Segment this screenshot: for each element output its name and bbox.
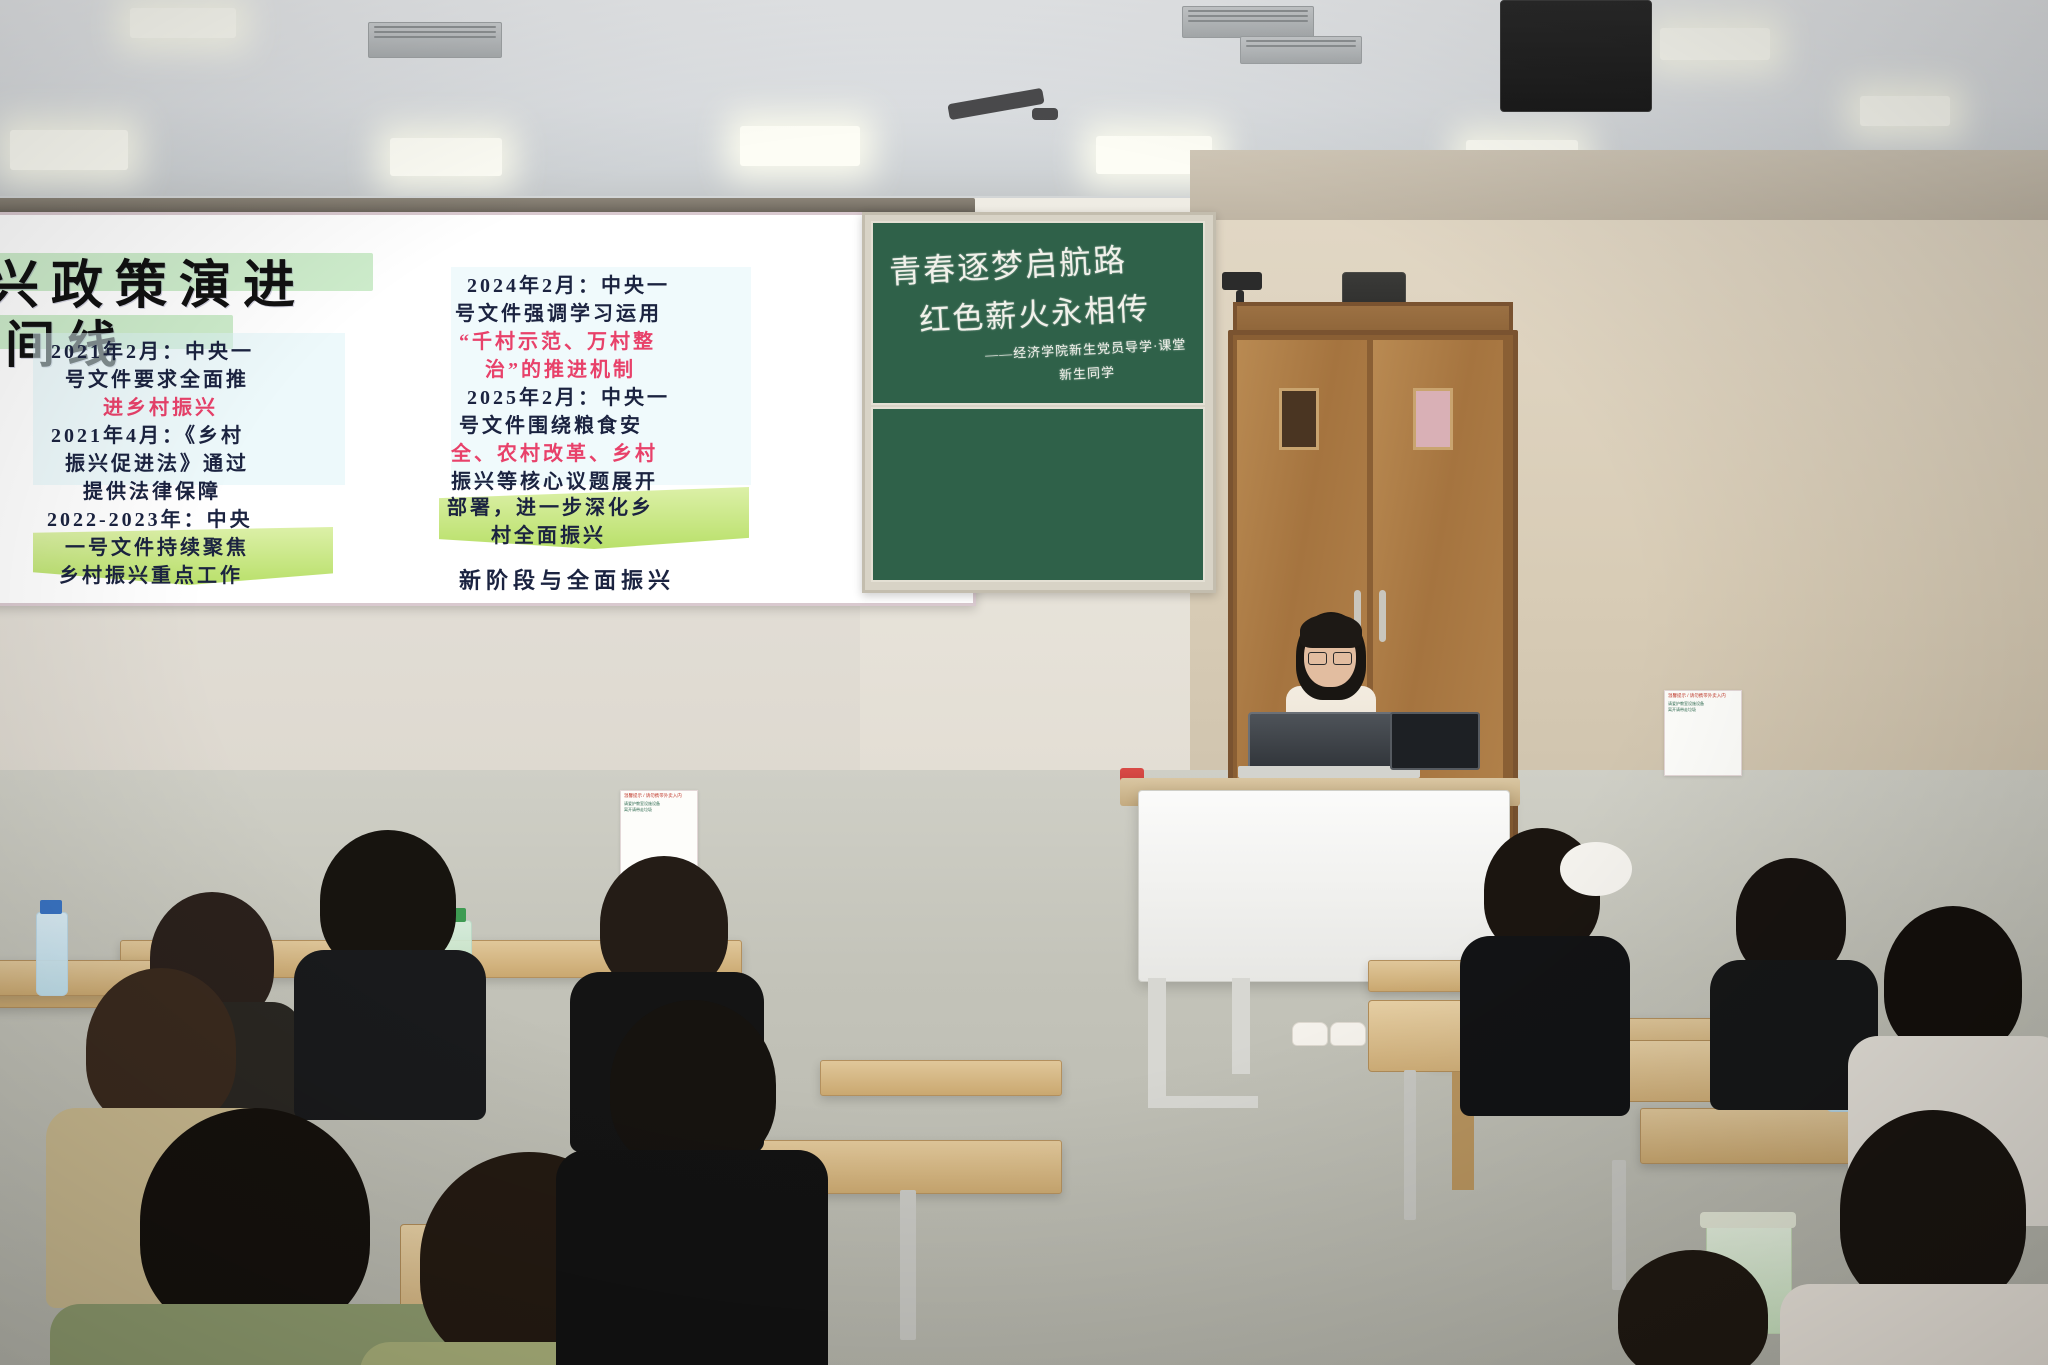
blackboard-upper-panel: 青春逐梦启航路 红色薪火永相传 ——经济学院新生党员导学·课堂 新生同学	[871, 221, 1205, 405]
right-line-3: “千村示范、万村整	[459, 325, 656, 354]
student-torso	[1780, 1284, 2048, 1365]
student-torso	[556, 1150, 828, 1365]
ceiling-vent	[1182, 6, 1314, 38]
left-line-5: 振兴促进法》通过	[65, 447, 249, 476]
blackboard-line-4: 新生同学	[1059, 362, 1116, 384]
presenter-hair-front	[1300, 614, 1362, 648]
student-hair	[1840, 1110, 2026, 1310]
ceiling-light	[1660, 28, 1770, 60]
door-window-left	[1279, 388, 1319, 450]
projection-screen: 兴政策演进 时间线 2021年2月：中央一 号文件要求全面推 进乡村振兴 202…	[0, 212, 976, 606]
left-line-6: 提供法律保障	[83, 475, 221, 504]
ceiling-vent	[368, 22, 502, 58]
right-line-4: 治”的推进机制	[485, 353, 636, 382]
right-line-7: 全、农村改革、乡村	[451, 437, 658, 466]
right-caption: 新阶段与全面振兴	[459, 563, 675, 595]
notice-poster-door: 温馨提示 / 请勿携带外卖入内 请爱护教室设施设备 离开请带走垃圾	[1664, 690, 1742, 776]
poster-title: 温馨提示 / 请勿携带外卖入内	[621, 791, 697, 801]
ceiling-light	[10, 130, 128, 170]
bubble-tea-lid	[1700, 1212, 1796, 1228]
podium-crossbar	[1148, 1096, 1258, 1108]
presenter-glasses-icon	[1308, 652, 1352, 663]
ceiling-light	[740, 126, 860, 166]
ceiling-light	[390, 138, 502, 176]
ceiling-vent	[1240, 36, 1362, 64]
ceiling-light	[130, 8, 236, 38]
left-line-1: 2021年2月：中央一	[51, 335, 254, 364]
right-line-1: 2024年2月：中央一	[467, 269, 670, 298]
blackboard-line-2: 红色薪火永相传	[918, 283, 1151, 340]
right-line-9: 部署，进一步深化乡	[447, 491, 654, 520]
right-line-2: 号文件强调学习运用	[455, 297, 662, 326]
podium-body: ★ 安徽财经大学	[1138, 790, 1510, 982]
bottle-cap-1	[40, 900, 62, 914]
poster-title: 温馨提示 / 请勿携带外卖入内	[1665, 691, 1741, 701]
left-line-3: 进乡村振兴	[103, 391, 218, 420]
desk-support-left	[900, 1190, 916, 1340]
left-line-2: 号文件要求全面推	[65, 363, 249, 392]
desk-support-right-2	[1612, 1160, 1626, 1290]
presenter-shoe-right	[1330, 1022, 1366, 1046]
right-line-6: 号文件围绕粮食安	[459, 409, 643, 438]
projector-mount-arm	[1032, 108, 1058, 120]
student-torso	[1460, 936, 1630, 1116]
student-hair	[86, 968, 236, 1128]
right-line-10: 村全面振兴	[491, 519, 606, 548]
poster-line: 离开请带走垃圾	[1665, 707, 1741, 713]
blackboard-lower-panel	[871, 407, 1205, 582]
presenter-shoe-left	[1292, 1022, 1328, 1046]
left-line-9: 乡村振兴重点工作	[59, 559, 243, 588]
hair-bow	[1560, 842, 1632, 896]
student-hair	[610, 1000, 776, 1170]
water-bottle-1	[36, 912, 68, 996]
wall-camera-icon	[1222, 272, 1262, 290]
left-line-7: 2022-2023年：中央	[47, 503, 253, 532]
desk-support-right	[1404, 1070, 1416, 1220]
door-handle-right[interactable]	[1379, 590, 1386, 642]
poster-line: 离开请带走垃圾	[621, 807, 697, 813]
blackboard-frame: 青春逐梦启航路 红色薪火永相传 ——经济学院新生党员导学·课堂 新生同学	[862, 212, 1216, 593]
right-line-8: 振兴等核心议题展开	[451, 465, 658, 494]
wall-upper-band	[1190, 150, 2048, 220]
laptop-screen[interactable]	[1248, 712, 1412, 774]
classroom-photo: 兴政策演进 时间线 2021年2月：中央一 号文件要求全面推 进乡村振兴 202…	[0, 0, 2048, 1365]
student-hair	[140, 1108, 370, 1336]
left-line-4: 2021年4月：《乡村	[51, 419, 244, 448]
podium-monitor[interactable]	[1390, 712, 1480, 770]
podium-leg-left	[1148, 978, 1166, 1098]
slide-content: 兴政策演进 时间线 2021年2月：中央一 号文件要求全面推 进乡村振兴 202…	[0, 215, 973, 603]
ceiling-projector-housing	[1500, 0, 1652, 112]
ceiling-light	[1860, 96, 1950, 126]
door-window-right	[1413, 388, 1453, 450]
podium-leg-right	[1232, 978, 1250, 1074]
student-hair	[1884, 906, 2022, 1056]
student-torso	[294, 950, 486, 1120]
blackboard-line-1: 青春逐梦启航路	[888, 235, 1128, 293]
blackboard-line-3: ——经济学院新生党员导学·课堂	[985, 334, 1187, 364]
right-line-5: 2025年2月：中央一	[467, 381, 670, 410]
desk-mid-row	[820, 1060, 1062, 1096]
left-line-8: 一号文件持续聚焦	[65, 531, 249, 560]
